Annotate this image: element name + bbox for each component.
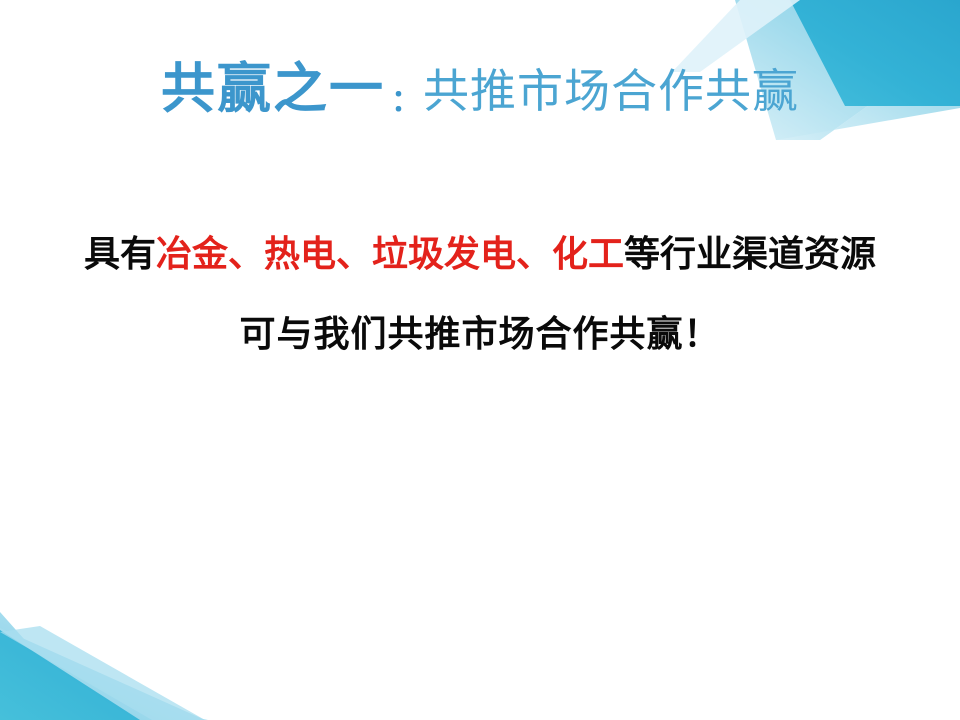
body-line-2-text: 可与我们共推市场合作共赢！ [239, 313, 720, 354]
slide-body: 具有冶金、热电、垃圾发电、化工等行业渠道资源 可与我们共推市场合作共赢！ [0, 236, 960, 352]
decoration-bottom-left-pale-wedge [0, 628, 205, 720]
decoration-bottom-left-pale-band [0, 612, 208, 720]
slide-title-subtitle: 共推市场合作共赢 [423, 66, 799, 117]
slide-title-separator: ： [385, 85, 423, 118]
slide-title: 共赢之一：共推市场合作共赢 [0, 62, 960, 116]
slide-canvas: 共赢之一：共推市场合作共赢 具有冶金、热电、垃圾发电、化工等行业渠道资源 可与我… [0, 0, 960, 720]
decoration-bottom-left-cyan-band [0, 630, 140, 720]
slide-title-main: 共赢之一 [161, 59, 385, 119]
body-line-1: 具有冶金、热电、垃圾发电、化工等行业渠道资源 [0, 236, 960, 272]
body-line-1-highlight: 冶金、热电、垃圾发电、化工 [156, 233, 624, 274]
decoration-bottom-left-ribbon [0, 626, 205, 720]
body-line-2: 可与我们共推市场合作共赢！ [0, 316, 960, 352]
body-line-1-suffix: 等行业渠道资源 [624, 233, 876, 274]
body-line-1-prefix: 具有 [84, 233, 156, 274]
